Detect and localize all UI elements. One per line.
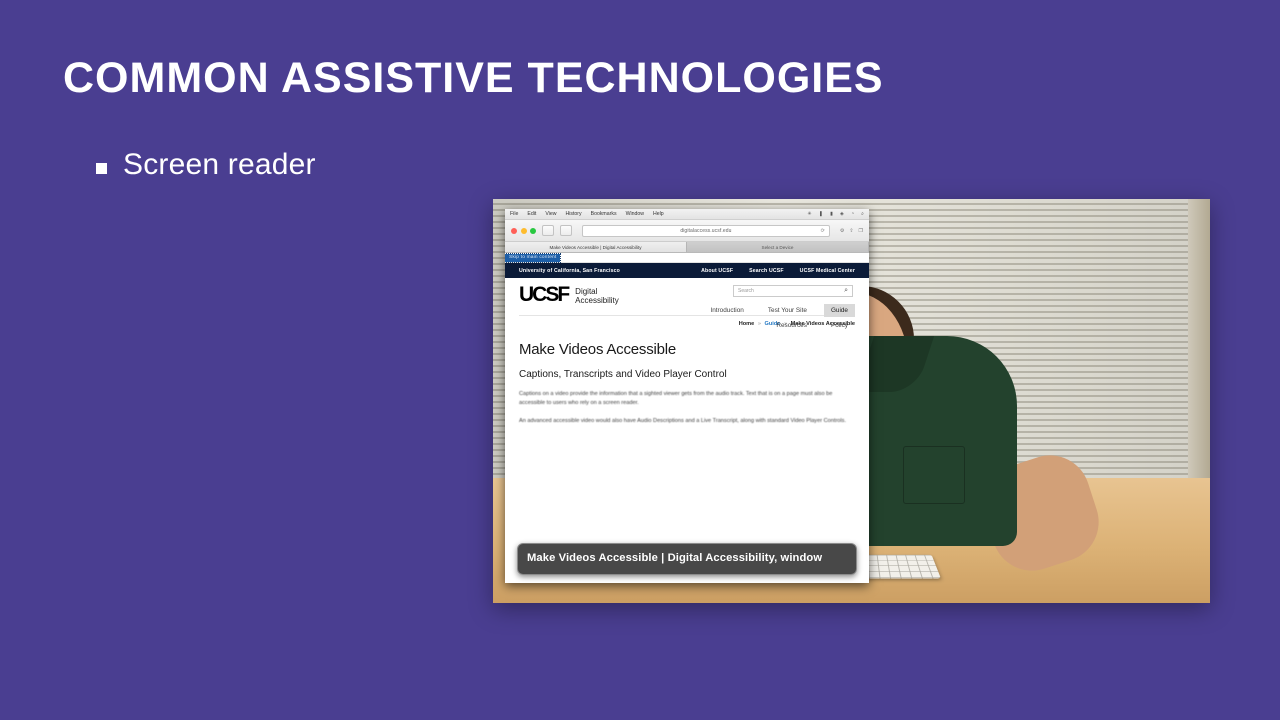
menu-item-history[interactable]: History xyxy=(565,211,581,217)
global-nav-medical-center[interactable]: UCSF Medical Center xyxy=(800,268,855,274)
skip-link-row: Skip to main content xyxy=(505,253,869,263)
nav-item-policy[interactable]: Policy xyxy=(824,319,855,332)
nav-item-test-your-site[interactable]: Test Your Site xyxy=(761,304,814,317)
address-bar[interactable]: digitalaccess.ucsf.edu ⟳ xyxy=(582,225,830,237)
nav-item-introduction[interactable]: Introduction xyxy=(703,304,750,317)
article-title: Make Videos Accessible xyxy=(519,341,855,358)
menu-item-view[interactable]: View xyxy=(545,211,556,217)
clock-icon[interactable]: ◔ xyxy=(851,211,854,217)
square-bullet-icon xyxy=(96,163,107,174)
browser-tab-active[interactable]: Make Videos Accessible | Digital Accessi… xyxy=(505,242,687,252)
share-icon[interactable]: ⇧ xyxy=(849,228,853,234)
ucsf-global-nav[interactable]: University of California, San Francisco … xyxy=(505,263,869,278)
browser-tab-inactive[interactable]: Select a Device xyxy=(687,242,869,252)
tabs-icon[interactable]: ❐ xyxy=(859,228,863,234)
safari-browser-window[interactable]: File Edit View History Bookmarks Window … xyxy=(505,209,869,583)
menu-item-window[interactable]: Window xyxy=(626,211,644,217)
site-header: UCSF Digital Accessibility Search ⌕ Intr… xyxy=(505,278,869,310)
minimize-button[interactable] xyxy=(521,228,527,234)
site-main-nav[interactable]: Introduction Test Your Site Guide Resour… xyxy=(657,304,855,332)
toolbar-icons[interactable]: ⚙ ⇧ ❐ xyxy=(840,228,863,234)
bluetooth-icon[interactable]: ✳ xyxy=(807,211,811,217)
menu-item-edit[interactable]: Edit xyxy=(527,211,536,217)
sidebar-toggle-button[interactable] xyxy=(542,225,554,236)
macos-menu-bar[interactable]: File Edit View History Bookmarks Window … xyxy=(505,209,869,220)
close-button[interactable] xyxy=(511,228,517,234)
bullet-list-item: Screen reader xyxy=(96,148,316,182)
search-input-placeholder[interactable]: Search xyxy=(738,288,754,294)
nav-item-guide[interactable]: Guide xyxy=(824,304,855,317)
nav-item-resources[interactable]: Resources xyxy=(769,319,814,332)
browser-tab-strip[interactable]: Make Videos Accessible | Digital Accessi… xyxy=(505,242,869,253)
menu-item-help[interactable]: Help xyxy=(653,211,664,217)
page-title: COMMON ASSISTIVE TECHNOLOGIES xyxy=(63,54,884,103)
menu-item-bookmarks[interactable]: Bookmarks xyxy=(591,211,617,217)
zoom-button[interactable] xyxy=(530,228,536,234)
shirt-pocket-right xyxy=(903,446,965,504)
voiceover-caption-text: Make Videos Accessible | Digital Accessi… xyxy=(527,551,847,565)
menu-bar-status-icons[interactable]: ✳ ❚ ▮ ◈ ◔ ⌕ xyxy=(807,211,864,218)
battery-icon[interactable]: ▮ xyxy=(830,211,833,217)
site-name: Digital Accessibility xyxy=(575,288,619,306)
wifi-icon[interactable]: ◈ xyxy=(840,211,844,217)
site-name-line-1: Digital xyxy=(575,287,597,296)
back-forward-button[interactable] xyxy=(560,225,572,236)
bullet-item-label: Screen reader xyxy=(123,148,316,182)
reload-icon[interactable]: ⟳ xyxy=(821,228,825,234)
embedded-video-player[interactable]: File Edit View History Bookmarks Window … xyxy=(493,199,1210,603)
ucsf-brand-link[interactable]: University of California, San Francisco xyxy=(519,268,620,274)
global-nav-search-ucsf[interactable]: Search UCSF xyxy=(749,268,784,274)
voiceover-icon[interactable]: ❚ xyxy=(819,211,823,217)
window-traffic-lights[interactable] xyxy=(511,228,536,234)
menu-item-file[interactable]: File xyxy=(510,211,518,217)
search-icon[interactable]: ⌕ xyxy=(844,287,848,295)
site-name-line-2: Accessibility xyxy=(575,296,619,305)
article-paragraph-1: Captions on a video provide the informat… xyxy=(519,390,849,408)
ucsf-logo[interactable]: UCSF xyxy=(519,286,568,305)
article-paragraph-2: An advanced accessible video would also … xyxy=(519,417,849,426)
site-search-box[interactable]: Search ⌕ xyxy=(733,285,853,297)
settings-icon[interactable]: ⚙ xyxy=(840,228,844,234)
address-bar-url: digitalaccess.ucsf.edu xyxy=(680,228,731,234)
skip-to-main-content-link[interactable]: Skip to main content xyxy=(505,254,560,262)
article-subtitle: Captions, Transcripts and Video Player C… xyxy=(519,369,819,381)
presentation-slide: COMMON ASSISTIVE TECHNOLOGIES Screen rea… xyxy=(0,0,1280,720)
global-nav-about-ucsf[interactable]: About UCSF xyxy=(701,268,733,274)
voiceover-caption-panel: Make Videos Accessible | Digital Accessi… xyxy=(517,543,857,575)
browser-toolbar[interactable]: digitalaccess.ucsf.edu ⟳ ⚙ ⇧ ❐ xyxy=(505,220,869,242)
spotlight-icon[interactable]: ⌕ xyxy=(861,211,864,218)
